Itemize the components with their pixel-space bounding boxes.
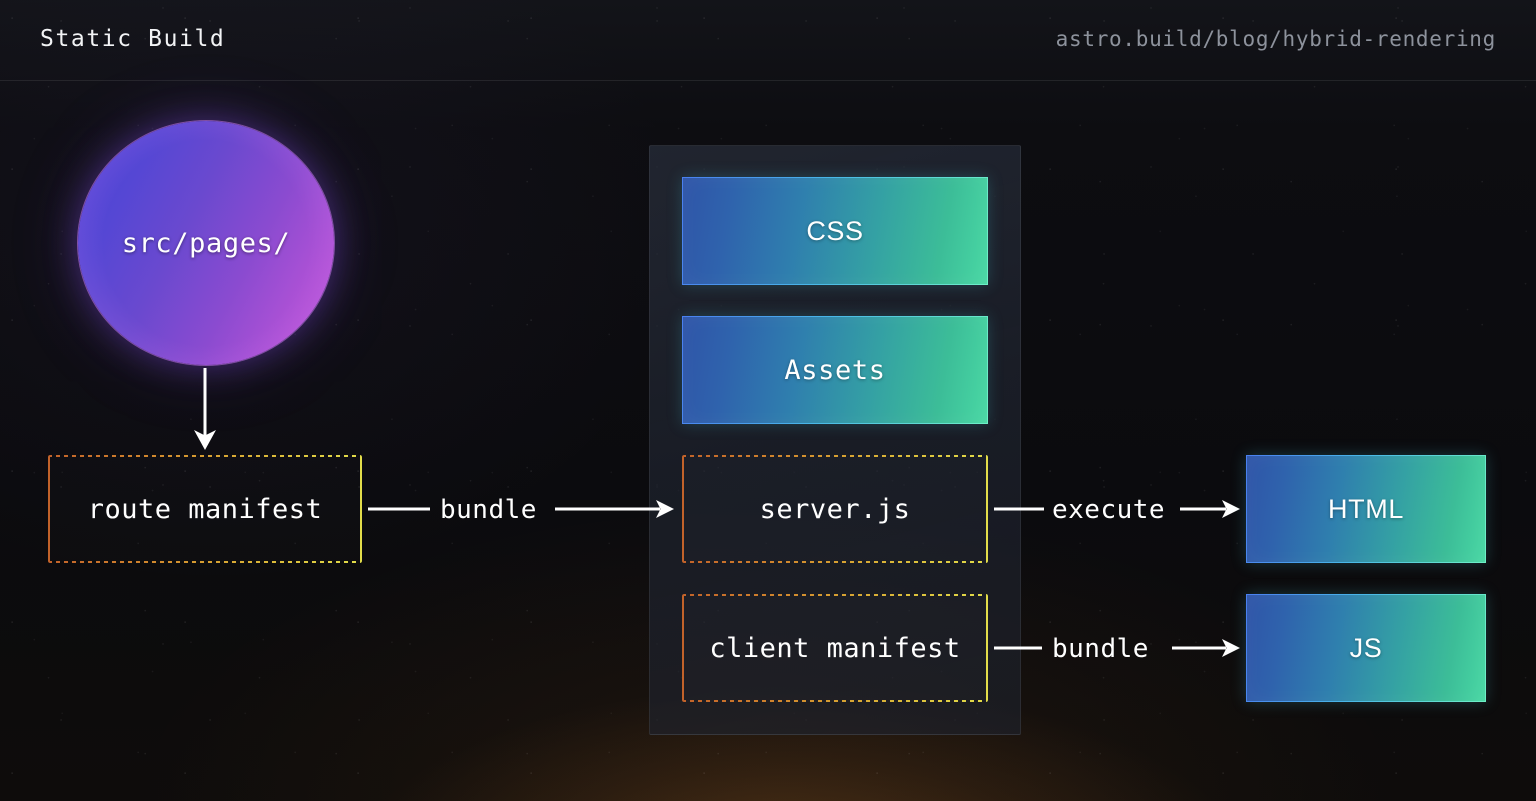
node-js-label: JS <box>1350 633 1383 664</box>
node-assets[interactable]: Assets <box>682 316 988 424</box>
node-html[interactable]: HTML <box>1246 455 1486 563</box>
diagram-canvas: Static Build astro.build/blog/hybrid-ren… <box>0 0 1536 801</box>
connector-label-execute: execute <box>1052 495 1165 525</box>
connector-label-bundle-js: bundle <box>1052 634 1149 664</box>
source-url: astro.build/blog/hybrid-rendering <box>1056 27 1496 51</box>
node-route-manifest-label: route manifest <box>88 494 323 525</box>
page-title: Static Build <box>40 26 225 52</box>
node-css-label: CSS <box>806 216 863 247</box>
node-assets-label: Assets <box>784 355 885 386</box>
node-server-js[interactable]: server.js <box>682 455 988 563</box>
node-html-label: HTML <box>1328 494 1404 525</box>
node-server-js-label: server.js <box>760 494 911 525</box>
connector-source-to-route-manifest <box>180 368 230 454</box>
node-client-manifest-label: client manifest <box>709 633 960 664</box>
node-js[interactable]: JS <box>1246 594 1486 702</box>
node-src-pages-label: src/pages/ <box>122 228 291 259</box>
node-css[interactable]: CSS <box>682 177 988 285</box>
header-bar: Static Build astro.build/blog/hybrid-ren… <box>0 0 1536 81</box>
node-route-manifest[interactable]: route manifest <box>48 455 362 563</box>
connector-label-bundle-server: bundle <box>440 495 537 525</box>
node-src-pages[interactable]: src/pages/ <box>78 121 334 365</box>
node-client-manifest[interactable]: client manifest <box>682 594 988 702</box>
